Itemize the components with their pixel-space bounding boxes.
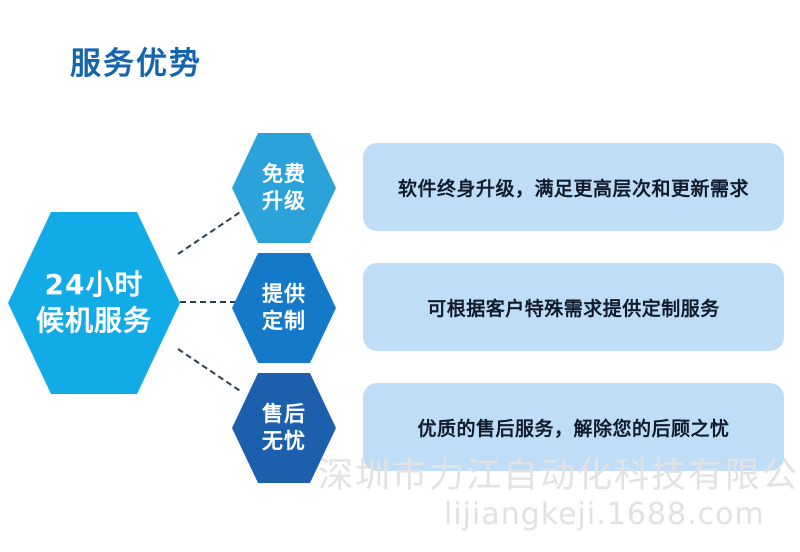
description-text-customization: 可根据客户特殊需求提供定制服务	[427, 294, 720, 321]
watermark-url: lijiangkeji.1688.com	[444, 497, 765, 532]
branch-hexagon-free-upgrade: 免费 升级	[232, 133, 336, 243]
description-text-free-upgrade: 软件终身升级，满足更高层次和更新需求	[398, 174, 749, 201]
connector-line-upper	[177, 212, 239, 255]
branch-hexagon-after-sales: 售后 无忧	[232, 373, 336, 483]
branch-hexagon-customization-line2: 定制	[262, 308, 306, 335]
page-title: 服务优势	[70, 38, 202, 83]
description-text-after-sales: 优质的售后服务，解除您的后顾之忧	[417, 414, 729, 441]
description-box-free-upgrade: 软件终身升级，满足更高层次和更新需求	[363, 143, 784, 231]
center-hexagon-line2: 候机服务	[36, 303, 152, 339]
branch-hexagon-customization-line1: 提供	[262, 281, 306, 308]
infographic-canvas: 服务优势 24小时 候机服务 免费 升级 提供 定制 售后 无忧 软件终身升级，…	[0, 0, 800, 552]
connector-line-lower	[177, 348, 239, 391]
branch-hexagon-after-sales-line2: 无忧	[262, 428, 306, 455]
description-box-customization: 可根据客户特殊需求提供定制服务	[363, 263, 784, 351]
description-box-after-sales: 优质的售后服务，解除您的后顾之忧	[363, 383, 784, 471]
connector-line-middle	[180, 301, 236, 303]
branch-hexagon-customization: 提供 定制	[232, 253, 336, 363]
branch-hexagon-free-upgrade-line2: 升级	[262, 188, 306, 215]
center-hexagon: 24小时 候机服务	[8, 212, 180, 394]
center-hexagon-line1: 24小时	[45, 267, 144, 303]
branch-hexagon-after-sales-line1: 售后	[262, 401, 306, 428]
branch-hexagon-free-upgrade-line1: 免费	[262, 161, 306, 188]
